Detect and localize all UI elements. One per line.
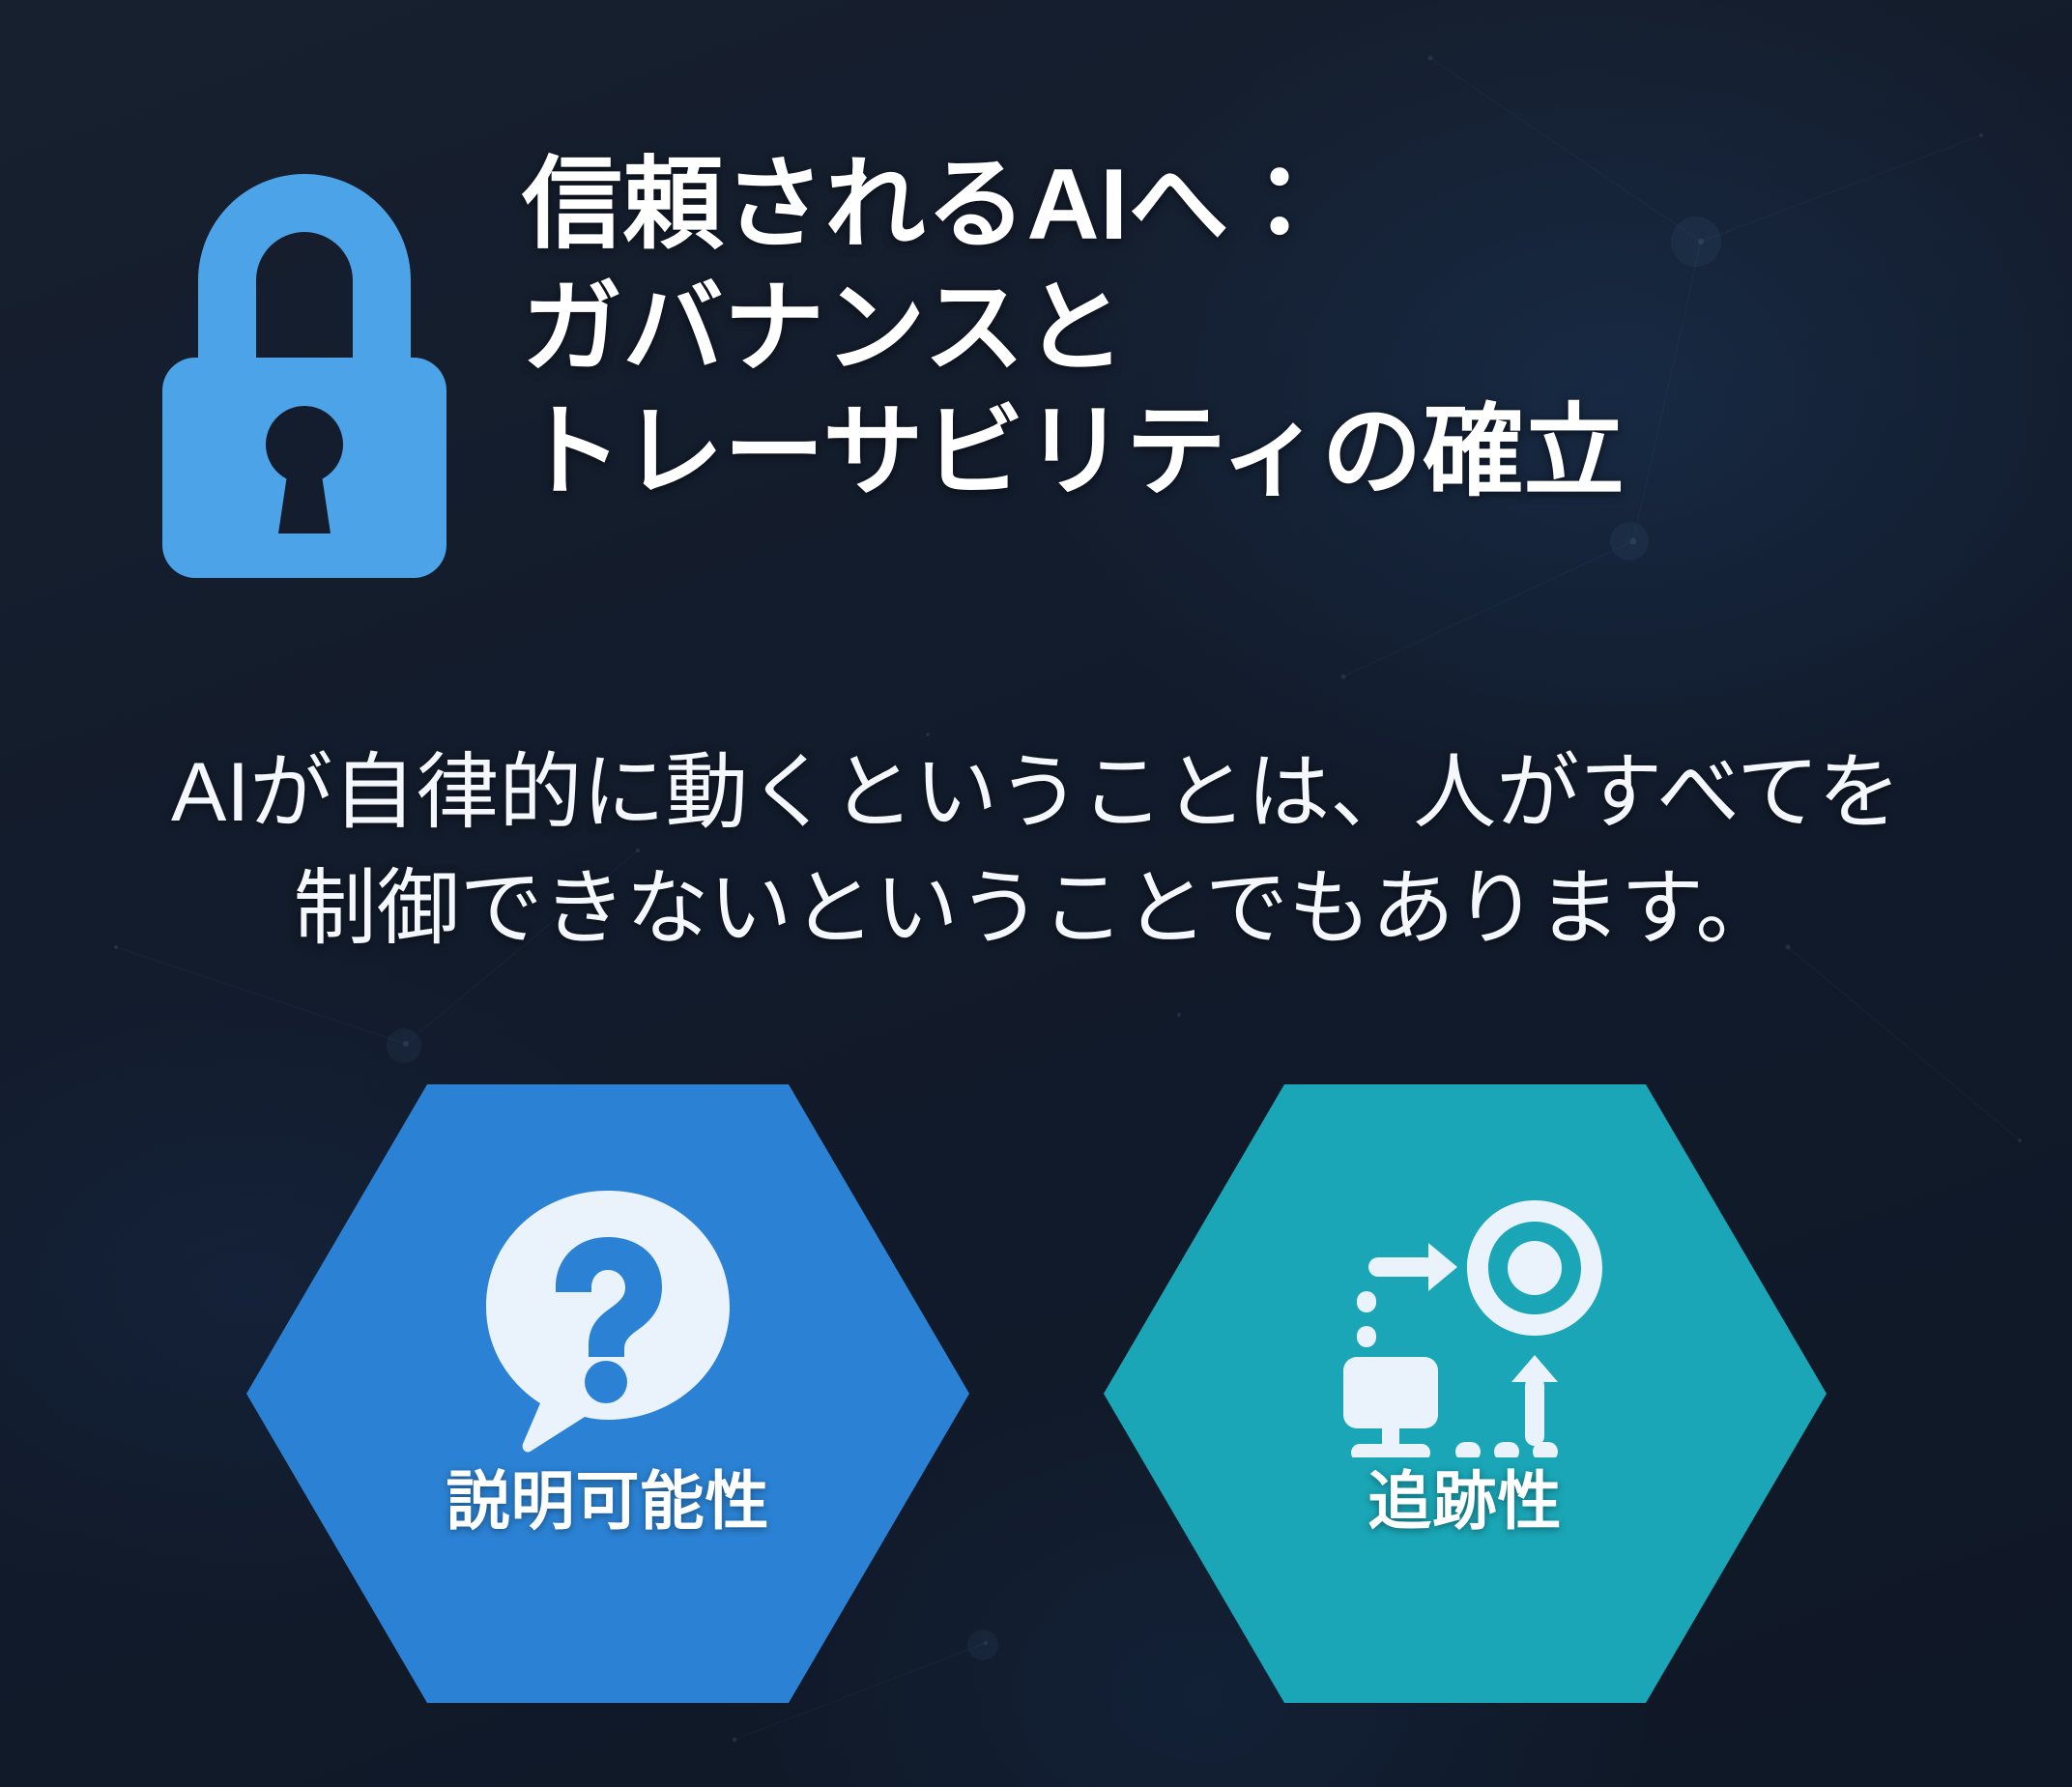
hexagon-card-traceability[interactable]: 追跡性 [1104, 1084, 1827, 1703]
hexagon-label-traceability: 追跡性 [1368, 1463, 1563, 1539]
body-copy: AIが自律的に動くということは、人がすべてを 制御できないということでもあります… [0, 735, 2072, 966]
title-line-3: トレーサビリティの確立 [522, 390, 2029, 514]
title-line-2: ガバナンスと [522, 267, 2029, 390]
body-line-1: AIが自律的に動くということは、人がすべてを [0, 735, 2072, 850]
header: 信頼されるAIへ： ガバナンスと トレーサビリティの確立 [0, 0, 2072, 677]
question-speech-bubble-icon [453, 1167, 763, 1457]
padlock-icon [145, 135, 464, 580]
traceability-path-target-icon [1310, 1167, 1620, 1457]
hexagon-row: 説明可能性 [0, 1084, 2072, 1713]
title-line-1: 信頼されるAIへ： [522, 143, 2029, 267]
hexagon-label-explainability: 説明可能性 [446, 1463, 770, 1539]
slide-canvas: 信頼されるAIへ： ガバナンスと トレーサビリティの確立 AIが自律的に動くとい… [0, 0, 2072, 1787]
hexagon-card-explainability[interactable]: 説明可能性 [246, 1084, 969, 1703]
body-line-2: 制御できないということでもあります。 [0, 850, 2072, 966]
page-title: 信頼されるAIへ： ガバナンスと トレーサビリティの確立 [522, 143, 2029, 514]
